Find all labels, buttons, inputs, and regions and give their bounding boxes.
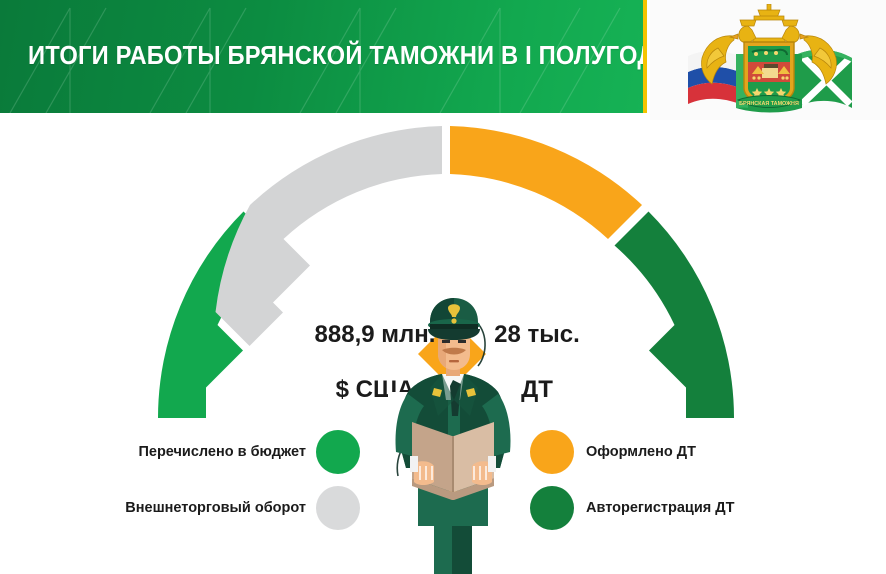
legend-label-autoreg: Авторегистрация ДТ	[586, 500, 734, 516]
legend-item-budget[interactable]: Перечислено в бюджет	[60, 430, 360, 474]
legend-item-autoreg[interactable]: Авторегистрация ДТ	[530, 486, 860, 530]
officer-eye-right	[458, 340, 466, 343]
legend-item-declarations[interactable]: Оформлено ДТ	[530, 430, 860, 474]
legend-item-turnover[interactable]: Внешнеторговый оборот	[60, 486, 360, 530]
russian-customs-emblem-icon: БРЯНСКАЯ ТАМОЖНЯ	[674, 4, 864, 116]
chart-legend: Перечислено в бюджет Внешнеторговый обор…	[0, 424, 886, 544]
header-bar: ИТОГИ РАБОТЫ БРЯНСКОЙ ТАМОЖНИ В I ПОЛУГО…	[0, 0, 646, 113]
header-gold-edge	[643, 0, 647, 113]
segment-autoreg[interactable]	[615, 212, 735, 419]
legend-label-declarations: Оформлено ДТ	[586, 444, 696, 460]
emblem-motto-text: БРЯНСКАЯ ТАМОЖНЯ	[739, 101, 799, 107]
infographic-canvas: ИТОГИ РАБОТЫ БРЯНСКОЙ ТАМОЖНИ В I ПОЛУГО…	[0, 0, 886, 574]
officer-eye-left	[442, 340, 450, 343]
emblem-area: БРЯНСКАЯ ТАМОЖНЯ	[650, 0, 886, 120]
officer-cap-visor	[428, 329, 480, 340]
legend-swatch-declarations	[530, 430, 574, 474]
legend-label-budget: Перечислено в бюджет	[138, 444, 306, 460]
page-title: ИТОГИ РАБОТЫ БРЯНСКОЙ ТАМОЖНИ В I ПОЛУГО…	[28, 0, 586, 113]
legend-label-turnover: Внешнеторговый оборот	[125, 500, 306, 516]
legend-swatch-autoreg	[530, 486, 574, 530]
officer-cap	[428, 298, 480, 340]
emblem-ribbon: БРЯНСКАЯ ТАМОЖНЯ	[738, 96, 800, 108]
legend-swatch-turnover	[316, 486, 360, 530]
legend-swatch-budget	[316, 430, 360, 474]
